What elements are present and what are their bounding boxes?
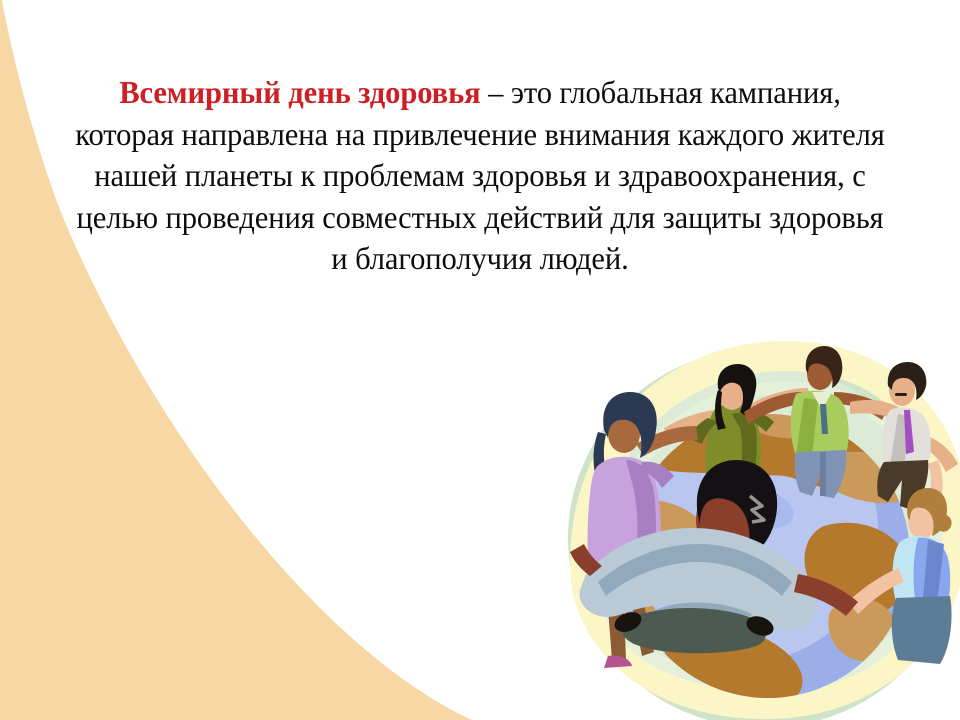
illustration-people-around-globe [546,330,960,720]
paragraph-lead-term: Всемирный день здоровья [119,75,480,110]
slide-paragraph: Всемирный день здоровья – это глобальная… [75,72,886,280]
slide-canvas: Всемирный день здоровья – это глобальная… [0,0,960,720]
